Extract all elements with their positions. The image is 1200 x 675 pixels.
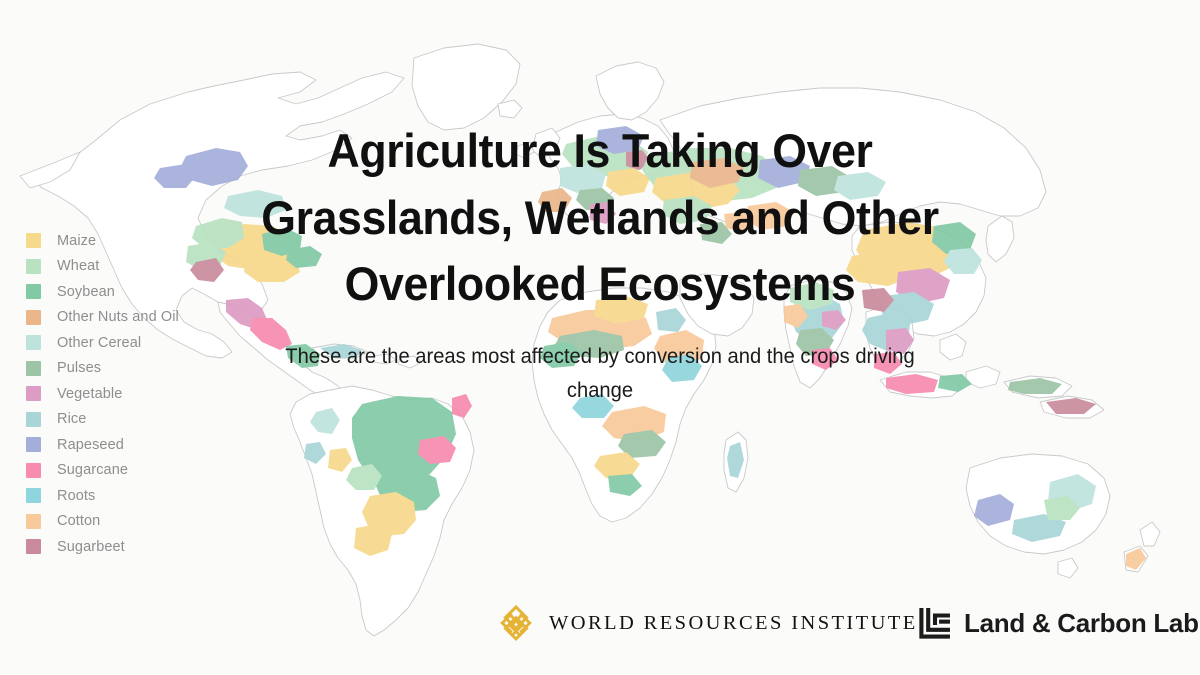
legend-swatch-sugarbeet	[26, 539, 41, 554]
footer-logos: WORLD RESOURCES INSTITUTE Land & Carbon …	[0, 595, 1200, 653]
legend-label-soybean: Soybean	[57, 285, 115, 300]
legend-item-sugarbeet[interactable]: Sugarbeet	[26, 534, 226, 560]
nested-bracket-icon	[918, 606, 952, 640]
wri-wordmark: WORLD RESOURCES INSTITUTE	[549, 612, 918, 635]
legend-label-rapeseed: Rapeseed	[57, 438, 124, 453]
legend-swatch-other-cereal	[26, 335, 41, 350]
legend-label-other-cereal: Other Cereal	[57, 336, 141, 351]
legend-swatch-soybean	[26, 284, 41, 299]
legend-label-other-nuts-and-oil: Other Nuts and Oil	[57, 310, 179, 325]
wri-lattice-icon	[497, 604, 535, 642]
legend-swatch-cotton	[26, 514, 41, 529]
title-block: Agriculture Is Taking Over Grasslands, W…	[222, 118, 978, 408]
legend-label-wheat: Wheat	[57, 259, 99, 274]
legend-item-sugarcane[interactable]: Sugarcane	[26, 458, 226, 484]
legend-label-sugarbeet: Sugarbeet	[57, 540, 125, 555]
legend-swatch-rice	[26, 412, 41, 427]
legend-item-pulses[interactable]: Pulses	[26, 356, 226, 382]
legend-label-roots: Roots	[57, 489, 95, 504]
legend-label-sugarcane: Sugarcane	[57, 463, 128, 478]
legend-swatch-roots	[26, 488, 41, 503]
legend-label-cotton: Cotton	[57, 514, 100, 529]
wri-logo[interactable]: WORLD RESOURCES INSTITUTE	[497, 599, 918, 647]
legend-item-vegetable[interactable]: Vegetable	[26, 381, 226, 407]
legend-label-vegetable: Vegetable	[57, 387, 122, 402]
legend-swatch-sugarcane	[26, 463, 41, 478]
legend-swatch-pulses	[26, 361, 41, 376]
legend-label-rice: Rice	[57, 412, 86, 427]
crop-legend: Maize Wheat Soybean Other Nuts and Oil O…	[26, 228, 226, 560]
legend-swatch-maize	[26, 233, 41, 248]
legend-item-maize[interactable]: Maize	[26, 228, 226, 254]
legend-label-pulses: Pulses	[57, 361, 101, 376]
slide-canvas: Maize Wheat Soybean Other Nuts and Oil O…	[0, 0, 1200, 675]
legend-item-other-cereal[interactable]: Other Cereal	[26, 330, 226, 356]
page-subtitle: These are the areas most affected by con…	[264, 340, 936, 408]
legend-item-other-nuts-and-oil[interactable]: Other Nuts and Oil	[26, 305, 226, 331]
legend-item-wheat[interactable]: Wheat	[26, 254, 226, 280]
legend-swatch-wheat	[26, 259, 41, 274]
legend-item-cotton[interactable]: Cotton	[26, 509, 226, 535]
legend-item-soybean[interactable]: Soybean	[26, 279, 226, 305]
legend-item-rapeseed[interactable]: Rapeseed	[26, 432, 226, 458]
legend-swatch-other-nuts-and-oil	[26, 310, 41, 325]
legend-swatch-rapeseed	[26, 437, 41, 452]
legend-swatch-vegetable	[26, 386, 41, 401]
legend-label-maize: Maize	[57, 234, 96, 249]
legend-item-rice[interactable]: Rice	[26, 407, 226, 433]
page-title: Agriculture Is Taking Over Grasslands, W…	[241, 118, 959, 318]
legend-item-roots[interactable]: Roots	[26, 483, 226, 509]
land-carbon-lab-wordmark: Land & Carbon Lab	[964, 608, 1199, 639]
land-carbon-lab-logo[interactable]: Land & Carbon Lab	[918, 599, 1199, 647]
